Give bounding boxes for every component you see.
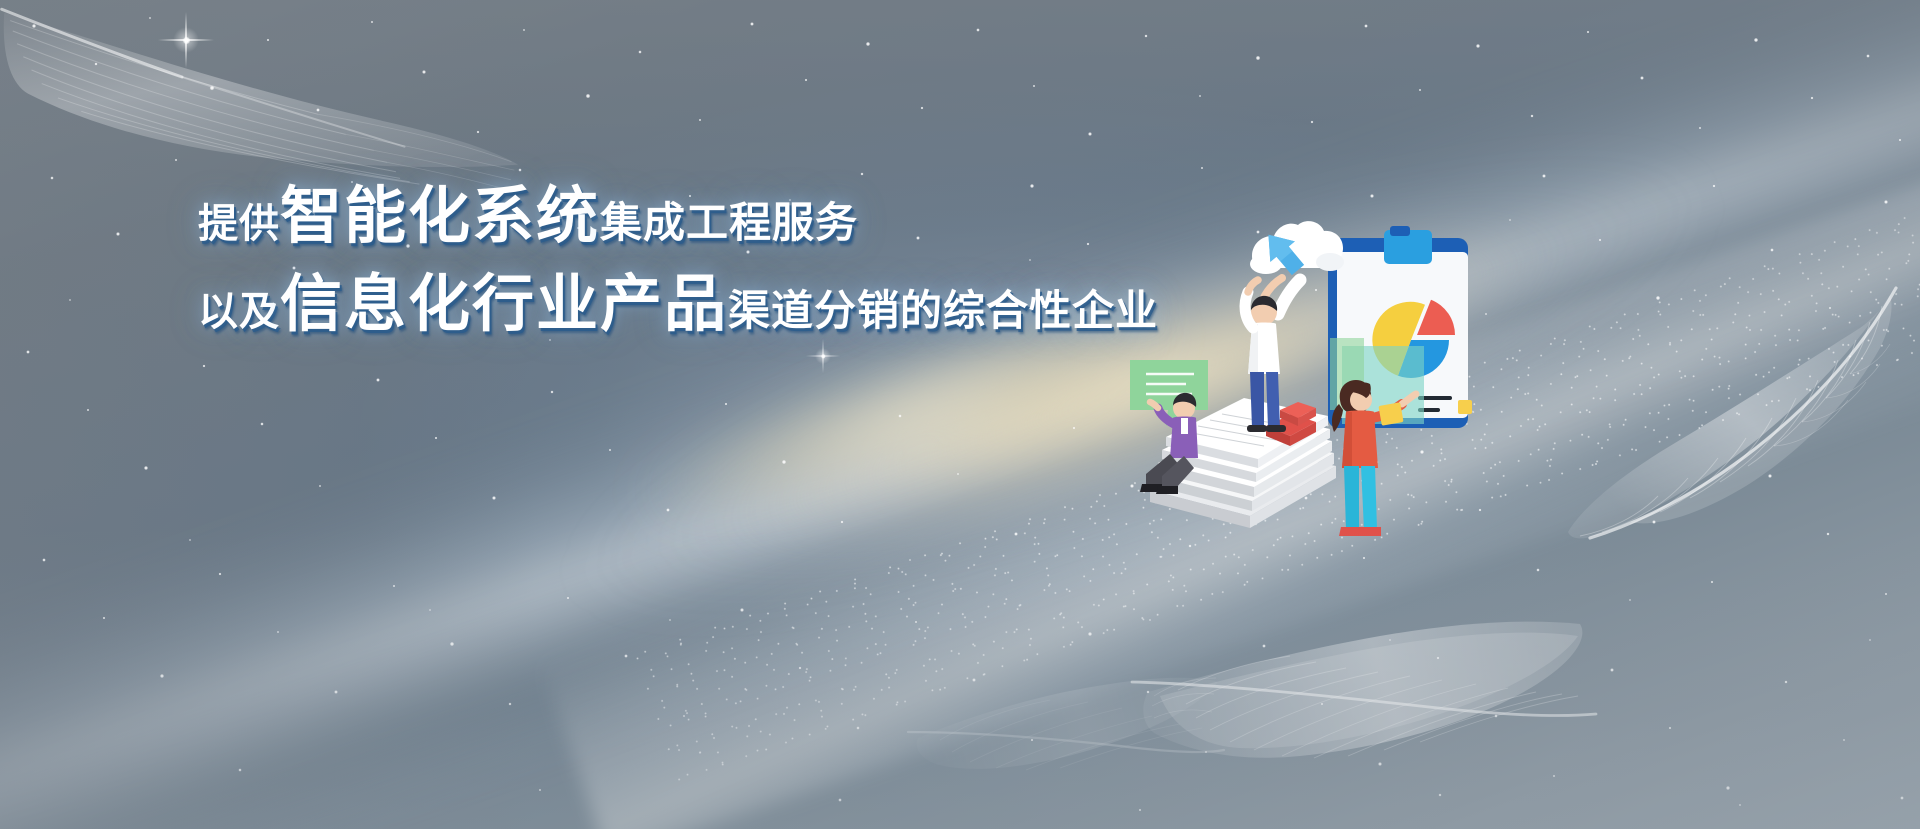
- headline-line-1: 提供智能化系统集成工程服务: [198, 186, 1098, 248]
- panel-teal: [1330, 338, 1424, 424]
- headline-line2-emphasis: 信息化行业产品: [280, 270, 728, 339]
- business-analytics-illustration: [1140, 218, 1500, 558]
- headline-line1-suffix: 集成工程服务: [600, 199, 858, 246]
- headline-line1-prefix: 提供: [198, 202, 280, 246]
- headline-line2-suffix: 渠道分销的综合性企业: [728, 287, 1158, 334]
- headline-line-2: 以及信息化行业产品渠道分销的综合性企业: [198, 274, 1098, 336]
- headline-line2-prefix: 以及: [198, 290, 280, 334]
- hero-banner: 提供智能化系统集成工程服务 以及信息化行业产品渠道分销的综合性企业: [0, 0, 1920, 829]
- background-left-vignette: [0, 0, 1920, 829]
- headline-line1-emphasis: 智能化系统: [280, 182, 600, 251]
- headline-block: 提供智能化系统集成工程服务 以及信息化行业产品渠道分销的综合性企业: [198, 186, 1098, 336]
